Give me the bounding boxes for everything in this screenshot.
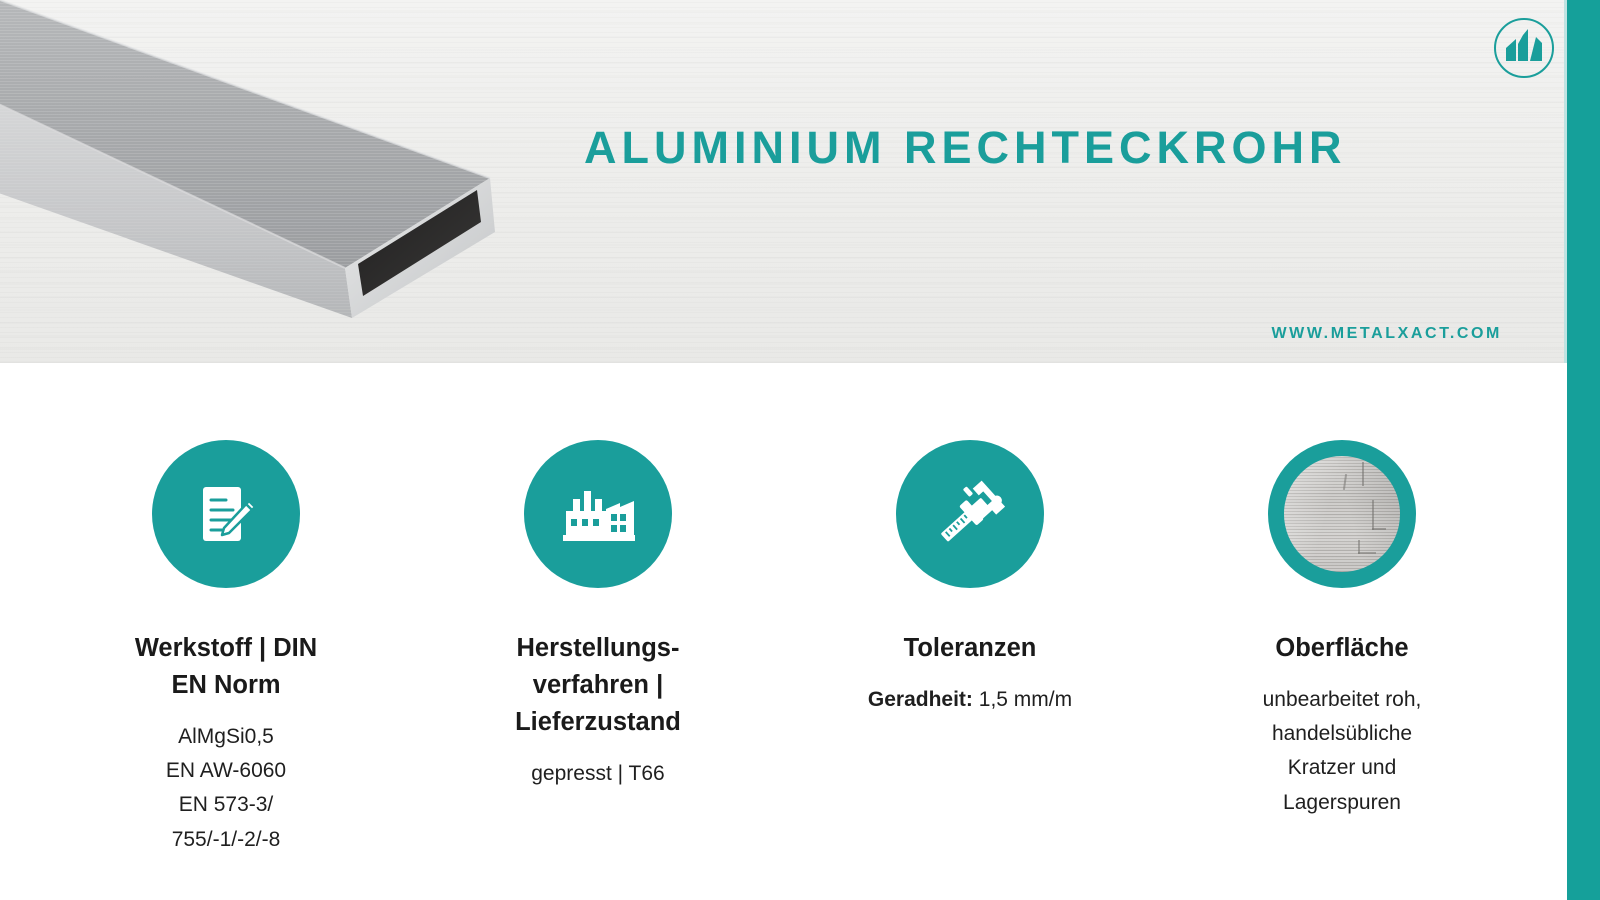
tolerance-line: Geradheit: 1,5 mm/m bbox=[868, 683, 1072, 717]
hero-section: ALUMINIUM RECHTECKROHR WWW.METALXACT.COM bbox=[0, 0, 1568, 363]
feature-body-line: unbearbeitet roh, bbox=[1263, 683, 1422, 717]
feature-herstellungsverfahren: Herstellungs- verfahren | Lieferzustand … bbox=[412, 363, 784, 900]
feature-title-line: Herstellungs- bbox=[515, 630, 681, 667]
tolerance-label: Geradheit: bbox=[868, 688, 973, 711]
document-pencil-icon bbox=[152, 440, 300, 588]
product-datasheet-page: ALUMINIUM RECHTECKROHR WWW.METALXACT.COM bbox=[0, 0, 1600, 900]
feature-title-line: Oberfläche bbox=[1275, 630, 1408, 667]
feature-body-oberflaeche: unbearbeitet roh, handelsübliche Kratzer… bbox=[1263, 683, 1422, 820]
feature-body-line: gepresst | T66 bbox=[531, 757, 664, 791]
metalxact-logo[interactable] bbox=[1493, 17, 1555, 79]
website-url[interactable]: WWW.METALXACT.COM bbox=[1271, 325, 1502, 343]
feature-title-line: Lieferzustand bbox=[515, 704, 681, 741]
feature-title-line: Toleranzen bbox=[904, 630, 1037, 667]
feature-toleranzen: Toleranzen Geradheit: 1,5 mm/m bbox=[784, 363, 1156, 900]
feature-title-line: Werkstoff | DIN bbox=[135, 630, 317, 667]
feature-body-werkstoff: AlMgSi0,5 EN AW-6060 EN 573-3/ 755/-1/-2… bbox=[166, 720, 286, 857]
feature-columns: Werkstoff | DIN EN Norm AlMgSi0,5 EN AW-… bbox=[0, 363, 1568, 900]
feature-title-toleranzen: Toleranzen bbox=[904, 630, 1037, 667]
feature-body-herstellungsverfahren: gepresst | T66 bbox=[531, 757, 664, 791]
feature-title-werkstoff: Werkstoff | DIN EN Norm bbox=[135, 630, 317, 704]
right-accent-bar bbox=[1567, 0, 1600, 900]
page-title: ALUMINIUM RECHTECKROHR bbox=[584, 122, 1346, 174]
feature-body-line: EN AW-6060 bbox=[166, 754, 286, 788]
metal-texture-disc bbox=[1284, 456, 1400, 572]
feature-body-line: 755/-1/-2/-8 bbox=[166, 823, 286, 857]
feature-title-line: EN Norm bbox=[135, 667, 317, 704]
factory-icon bbox=[524, 440, 672, 588]
feature-title-herstellungsverfahren: Herstellungs- verfahren | Lieferzustand bbox=[515, 630, 681, 741]
right-bar-edge bbox=[1564, 0, 1567, 363]
feature-body-line: Kratzer und bbox=[1263, 751, 1422, 785]
feature-body-line: Lagerspuren bbox=[1263, 786, 1422, 820]
feature-body-line: AlMgSi0,5 bbox=[166, 720, 286, 754]
caliper-icon bbox=[896, 440, 1044, 588]
feature-body-toleranzen: Geradheit: 1,5 mm/m bbox=[868, 683, 1072, 717]
feature-title-oberflaeche: Oberfläche bbox=[1275, 630, 1408, 667]
feature-body-line: EN 573-3/ bbox=[166, 788, 286, 822]
brushed-metal-surface-icon bbox=[1268, 440, 1416, 588]
tolerance-value: 1,5 mm/m bbox=[979, 688, 1072, 711]
feature-title-line: verfahren | bbox=[515, 667, 681, 704]
feature-werkstoff: Werkstoff | DIN EN Norm AlMgSi0,5 EN AW-… bbox=[40, 363, 412, 900]
feature-oberflaeche: Oberfläche unbearbeitet roh, handelsübli… bbox=[1156, 363, 1528, 900]
product-image-aluminium-tube bbox=[0, 0, 540, 340]
feature-body-line: handelsübliche bbox=[1263, 717, 1422, 751]
